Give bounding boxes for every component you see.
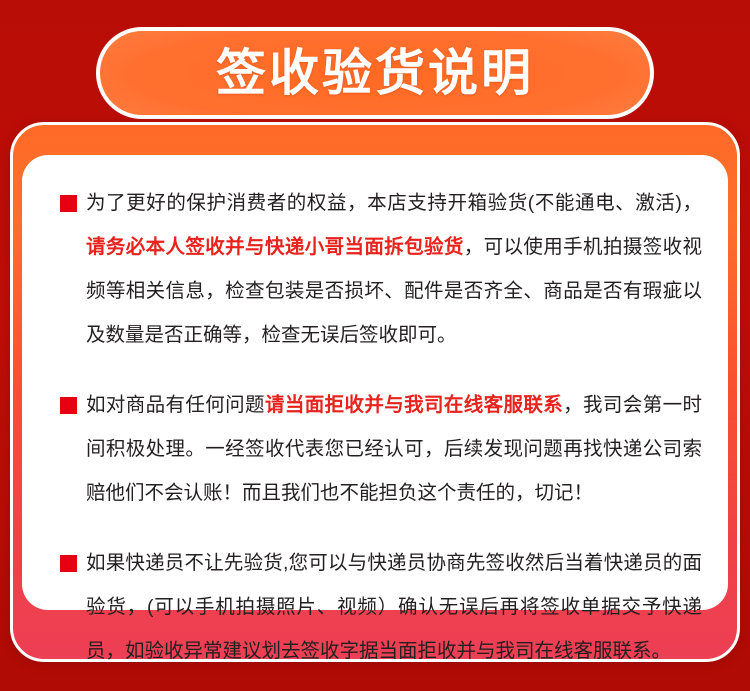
body-text: 为了更好的保护消费者的权益，本店支持开箱验货(不能通电、激活)， <box>86 192 702 214</box>
emphasized-text: 请务必本人签收并与快递小哥当面拆包验货 <box>86 236 464 258</box>
paragraph-2: 如对商品有任何问题请当面拒收并与我司在线客服联系，我司会第一时间积极处理。一经签… <box>48 383 702 515</box>
emphasized-text: 请当面拒收并与我司在线客服联系 <box>265 394 563 416</box>
body-text: 如对商品有任何问题 <box>86 394 265 416</box>
page-title: 签收验货说明 <box>216 48 534 98</box>
instruction-content-card: 为了更好的保护消费者的权益，本店支持开箱验货(不能通电、激活)，请务必本人签收并… <box>22 155 728 610</box>
red-square-bullet-icon <box>60 555 77 572</box>
paragraph-1: 为了更好的保护消费者的权益，本店支持开箱验货(不能通电、激活)，请务必本人签收并… <box>48 181 702 357</box>
red-square-bullet-icon <box>60 397 77 414</box>
red-square-bullet-icon <box>60 195 77 212</box>
body-text: 如果快递员不让先验货,您可以与快递员协商先签收然后当着快递员的面验货，(可以手机… <box>86 552 702 662</box>
title-badge: 签收验货说明 <box>96 27 654 119</box>
paragraph-3: 如果快递员不让先验货,您可以与快递员协商先签收然后当着快递员的面验货，(可以手机… <box>48 541 702 673</box>
page-root: 签收验货说明 为了更好的保护消费者的权益，本店支持开箱验货(不能通电、激活)，请… <box>0 0 750 691</box>
